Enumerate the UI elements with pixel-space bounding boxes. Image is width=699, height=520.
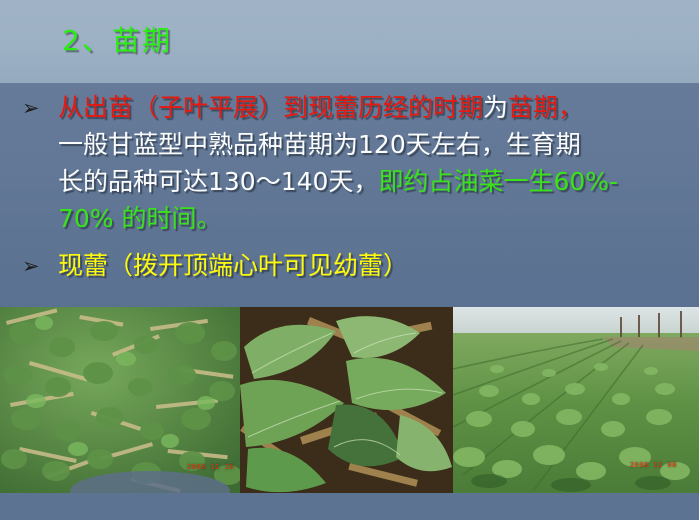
photo-timestamp: 2008 11 16 bbox=[187, 463, 234, 471]
text-segment: 为 bbox=[483, 93, 508, 122]
bullet-item-1: ➢ 从出苗（子叶平展）到现蕾历经的时期为苗期， 一般甘蓝型中熟品种苗期为120天… bbox=[0, 89, 699, 237]
slide-root: 2、苗期 ➢ 从出苗（子叶平展）到现蕾历经的时期为苗期， 一般甘蓝型中熟品种苗期… bbox=[0, 0, 699, 520]
photo-strip: 2008 11 16 bbox=[0, 307, 699, 493]
bullet-2-lines: 现蕾（拨开顶端心叶可见幼蕾） bbox=[58, 247, 699, 284]
photo-timestamp: 2008 12 08 bbox=[630, 461, 677, 469]
bottom-background-bar bbox=[0, 493, 699, 520]
bullet-1-line-3: 长的品种可达130～140天，即约占油菜一生60%- bbox=[58, 163, 681, 200]
text-segment: 一般甘蓝型中熟品种苗期为120天左右，生育期 bbox=[58, 130, 581, 159]
bullet-arrow-icon: ➢ bbox=[22, 251, 44, 281]
text-segment: 长的品种可达130～140天， bbox=[58, 167, 378, 196]
photo-leaf-closeup bbox=[240, 307, 453, 493]
photo-leaf-closeup-image bbox=[240, 307, 453, 493]
bullet-1-line-2: 一般甘蓝型中熟品种苗期为120天左右，生育期 bbox=[58, 126, 681, 163]
photo-rapeseed-rows: 2008 12 08 bbox=[453, 307, 699, 493]
text-segment: 即约占油菜一生60%- bbox=[378, 167, 618, 196]
bullet-1-lines: 从出苗（子叶平展）到现蕾历经的时期为苗期， 一般甘蓝型中熟品种苗期为120天左右… bbox=[58, 89, 699, 237]
body-band: ➢ 从出苗（子叶平展）到现蕾历经的时期为苗期， 一般甘蓝型中熟品种苗期为120天… bbox=[0, 83, 699, 307]
bullet-arrow-icon: ➢ bbox=[22, 93, 44, 123]
bullet-2-line-1: 现蕾（拨开顶端心叶可见幼蕾） bbox=[58, 247, 681, 284]
page-title: 2、苗期 bbox=[62, 22, 172, 60]
bullet-item-2: ➢ 现蕾（拨开顶端心叶可见幼蕾） bbox=[0, 247, 699, 284]
bullet-1-line-4: 70% 的时间。 bbox=[58, 200, 681, 237]
text-segment: 从出苗（子叶平展）到现蕾历经的时期 bbox=[58, 93, 483, 122]
text-segment: 70% 的时间。 bbox=[58, 204, 222, 233]
photo-seedlings-field: 2008 11 16 bbox=[0, 307, 240, 493]
bullet-1-line-1: 从出苗（子叶平展）到现蕾历经的时期为苗期， bbox=[58, 89, 681, 126]
text-segment: 现蕾（拨开顶端心叶可见幼蕾） bbox=[58, 251, 408, 280]
text-segment: 苗期， bbox=[508, 93, 583, 122]
title-band: 2、苗期 bbox=[0, 0, 699, 83]
